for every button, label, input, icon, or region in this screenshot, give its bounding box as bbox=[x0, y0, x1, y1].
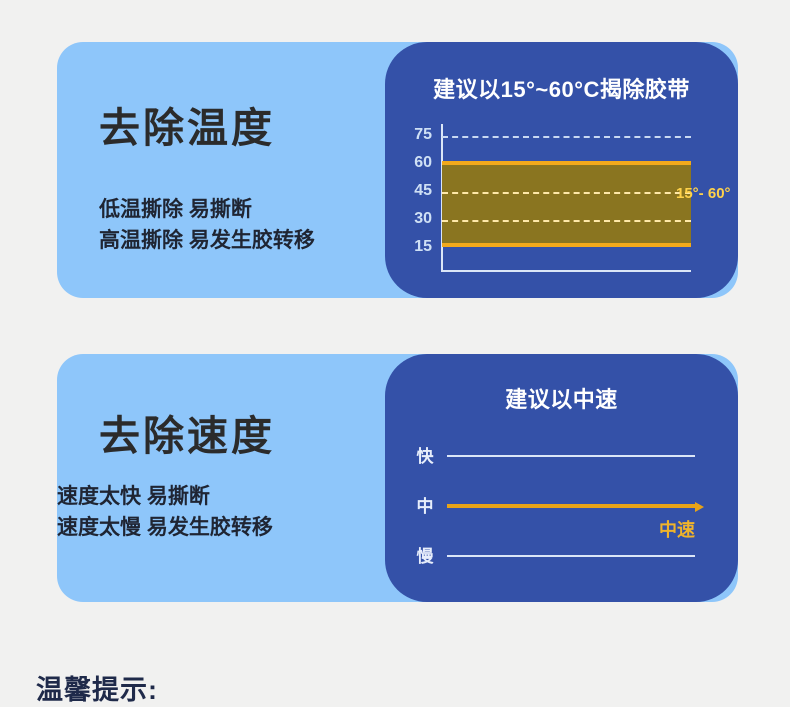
speed-chart-panel: 建议以中速 快 中 中速 慢 bbox=[385, 354, 738, 602]
speed-medium-annotation: 中速 bbox=[659, 516, 695, 542]
y-tick-15: 15 bbox=[392, 239, 432, 255]
temperature-card-description: 低温撕除 易撕断 高温撕除 易发生胶转移 bbox=[99, 194, 315, 256]
temperature-range-annotation: 15°- 60° bbox=[676, 185, 731, 202]
speed-label-medium: 中 bbox=[409, 498, 441, 515]
y-tick-60: 60 bbox=[392, 155, 432, 171]
temperature-description-line-1: 低温撕除 易撕断 bbox=[99, 194, 315, 225]
speed-description-line-1: 速度太快 易撕断 bbox=[57, 481, 397, 512]
temperature-chart-panel: 建议以15°~60°C揭除胶带 75 60 45 30 15 15°- 60° bbox=[385, 42, 738, 298]
temperature-description-line-2: 高温撕除 易发生胶转移 bbox=[99, 225, 315, 256]
card-removal-speed: 去除速度 速度太快 易撕断 速度太慢 易发生胶转移 建议以中速 快 中 中速 慢 bbox=[57, 354, 738, 602]
temperature-range-band bbox=[442, 161, 691, 247]
speed-line-fast bbox=[447, 455, 695, 457]
speed-info-panel: 去除速度 速度太快 易撕断 速度太慢 易发生胶转移 bbox=[57, 354, 397, 602]
temperature-chart-x-axis bbox=[441, 270, 691, 272]
speed-line-medium bbox=[447, 504, 699, 508]
speed-card-title: 去除速度 bbox=[99, 416, 275, 457]
card-removal-temperature: 去除温度 低温撕除 易撕断 高温撕除 易发生胶转移 建议以15°~60°C揭除胶… bbox=[57, 42, 738, 298]
speed-card-description: 速度太快 易撕断 速度太慢 易发生胶转移 bbox=[57, 481, 397, 543]
speed-line-slow bbox=[447, 555, 695, 557]
temperature-card-title: 去除温度 bbox=[99, 108, 275, 149]
temperature-info-panel: 去除温度 低温撕除 易撕断 高温撕除 易发生胶转移 bbox=[57, 42, 397, 298]
y-tick-75: 75 bbox=[392, 127, 432, 143]
speed-label-fast: 快 bbox=[409, 448, 441, 465]
speed-arrow-icon bbox=[695, 502, 704, 512]
gridline-30 bbox=[442, 220, 691, 222]
speed-description-line-2: 速度太慢 易发生胶转移 bbox=[57, 512, 397, 543]
gridline-75 bbox=[442, 136, 691, 138]
speed-label-slow: 慢 bbox=[409, 548, 441, 565]
y-tick-45: 45 bbox=[392, 183, 432, 199]
speed-description-wrapper: 速度太快 易撕断 速度太慢 易发生胶转移 bbox=[57, 481, 397, 543]
temperature-range-chart: 75 60 45 30 15 15°- 60° bbox=[385, 42, 738, 298]
footer-warm-tips: 温馨提示: bbox=[36, 668, 158, 707]
speed-level-chart: 快 中 中速 慢 bbox=[385, 354, 738, 602]
gridline-45 bbox=[442, 192, 691, 194]
y-tick-30: 30 bbox=[392, 211, 432, 227]
